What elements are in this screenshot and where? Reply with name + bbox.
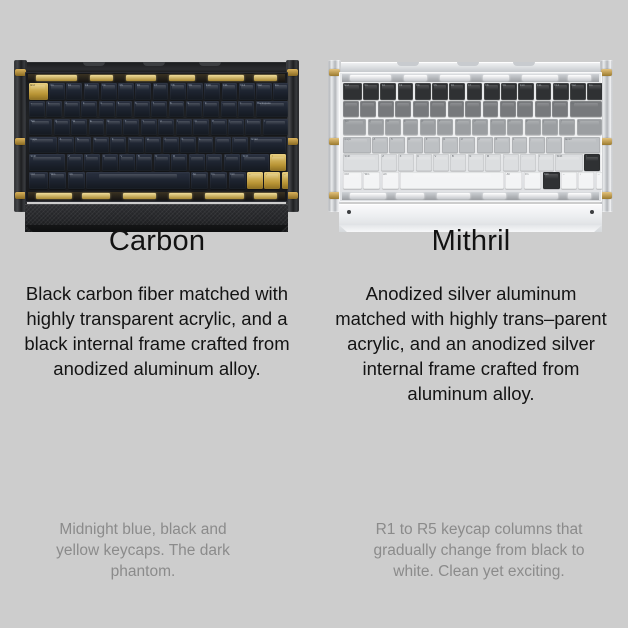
keycap[interactable]: , [503, 154, 519, 171]
keycap-legend: I [177, 120, 178, 123]
keycap-legend: , [190, 155, 191, 158]
keycap[interactable]: D [407, 137, 423, 154]
product-caption-mithril: R1 to R5 keycap columns that gradually c… [366, 519, 592, 582]
keycap[interactable]: ↓ [264, 172, 280, 189]
keycap[interactable]: F [424, 137, 440, 154]
keycap[interactable]: G [128, 137, 144, 154]
keycap[interactable]: U [472, 119, 488, 136]
keycap[interactable]: Esc [29, 83, 48, 100]
keycap-legend: 2 [379, 102, 381, 105]
keycap[interactable]: F10 [518, 83, 534, 100]
internal-plate-strip-bottom [28, 192, 285, 200]
keycap[interactable]: = [238, 101, 254, 118]
keycap-legend: 1 [48, 102, 50, 105]
keycap[interactable]: Ins [587, 83, 602, 100]
keycap-legend: B [452, 155, 454, 158]
keycap-legend: 0 [519, 102, 521, 105]
keycap-legend: ↓ [580, 173, 581, 176]
keycap-legend: P [212, 120, 214, 123]
keycap-legend: = [554, 102, 556, 105]
keycap-legend: Caps [31, 138, 37, 141]
keycap[interactable]: 8 [483, 101, 499, 118]
keycap-legend: V [121, 155, 123, 158]
keycap[interactable]: 5 [430, 101, 446, 118]
keycap[interactable]: / [538, 154, 554, 171]
keycap[interactable]: O [507, 119, 523, 136]
keycap[interactable]: ] [245, 119, 261, 136]
keycap[interactable]: X [398, 154, 414, 171]
keycap[interactable]: F11 [222, 83, 238, 100]
keyboard-row-home-row: CapsASDFGHJKL;'EnterPD [343, 137, 598, 154]
keycap[interactable]: F12 [239, 83, 255, 100]
keycap-legend: Y [142, 120, 144, 123]
keyboard-row-fn-row: EscF1F2F3F4F5F6F7F8F9F10F11F12DelInsPS [343, 83, 598, 100]
keycap-legend: 5 [432, 102, 434, 105]
keycap[interactable]: Enter [564, 137, 600, 154]
keyboard-render-mithril: EscF1F2F3F4F5F6F7F8F9F10F11F12DelInsPS~1… [328, 58, 613, 234]
keycap-legend: Q [369, 120, 371, 123]
keycap[interactable]: Win [49, 172, 66, 189]
keycap[interactable]: F5 [432, 83, 448, 100]
keycap[interactable]: F7 [153, 83, 169, 100]
keycap[interactable]: 4 [99, 101, 115, 118]
keycap-legend: / [225, 155, 226, 158]
keycap-field-carbon: EscF1F2F3F4F5F6F7F8F9F10F11F12DelInsPS~1… [29, 83, 284, 190]
keycap-legend: 0 [205, 102, 207, 105]
keycap[interactable]: 1 [360, 101, 376, 118]
keycap[interactable]: = [552, 101, 568, 118]
keycap[interactable]: Fn [524, 172, 541, 189]
keycap[interactable]: K [494, 137, 510, 154]
keycap[interactable]: F9 [501, 83, 517, 100]
keycap[interactable]: [ [228, 119, 244, 136]
keycap-legend: Enter [565, 138, 572, 141]
keycap[interactable]: 5 [116, 101, 132, 118]
keycap-legend: M [487, 155, 489, 158]
product-caption-carbon: Midnight blue, black and yellow keycaps.… [36, 519, 250, 582]
keycap[interactable]: Fn [210, 172, 227, 189]
keyboard-row-number-row: ~1234567890-=BackspaceHm [29, 101, 284, 118]
keycap[interactable]: → [282, 172, 288, 189]
keycap-legend: O [195, 120, 197, 123]
keycap-legend: 5 [118, 102, 120, 105]
keycap[interactable]: ; [215, 137, 231, 154]
keycap[interactable]: Z [67, 154, 83, 171]
keycap[interactable] [400, 172, 503, 189]
keycap[interactable]: . [206, 154, 222, 171]
keycap[interactable]: 3 [395, 101, 411, 118]
keycap[interactable]: Q [54, 119, 70, 136]
keyboard-row-top-row: TabQWERTYUIOP[]\PU [343, 119, 598, 136]
keycap-legend: Tab [345, 120, 349, 123]
keycap[interactable]: C [102, 154, 118, 171]
keycap[interactable]: 6 [134, 101, 150, 118]
brass-screw-icon [287, 138, 298, 145]
keycap[interactable]: Tab [343, 119, 366, 136]
keycap[interactable]: Alt [68, 172, 85, 189]
keycap-legend: Y [456, 120, 458, 123]
keycap-legend: F2 [382, 84, 385, 87]
keycap[interactable]: E [403, 119, 419, 136]
keycap-legend: Ctrl [345, 173, 349, 176]
crossbar-notch [457, 62, 479, 66]
keycap-legend: 2 [65, 102, 67, 105]
keycap-legend: A [374, 138, 376, 141]
keycap[interactable]: X [84, 154, 100, 171]
keycap[interactable]: F9 [187, 83, 203, 100]
keycap-legend: D [94, 138, 96, 141]
keycap-legend: R [107, 120, 109, 123]
keycap[interactable]: Shift [343, 154, 379, 171]
keycap-legend: Shift [557, 155, 563, 158]
product-caption-wrap-carbon: Midnight blue, black and yellow keycaps.… [10, 519, 276, 599]
keycap[interactable]: V [119, 154, 135, 171]
keycap-legend: ] [247, 120, 248, 123]
product-card-mithril[interactable]: EscF1F2F3F4F5F6F7F8F9F10F11F12DelInsPS~1… [314, 0, 628, 628]
crossbar-notch [513, 62, 535, 66]
keycap-legend: Ins [589, 84, 593, 87]
keycap[interactable]: ] [559, 119, 575, 136]
keycap[interactable]: Shift [29, 154, 65, 171]
keyboard-row-home-row: CapsASDFGHJKL;'EnterPD [29, 137, 284, 154]
keycap[interactable]: F10 [204, 83, 220, 100]
keycap-legend: F4 [416, 84, 419, 87]
keycap-legend: R [421, 120, 423, 123]
keycap-legend: Caps [345, 138, 351, 141]
keycap-legend: L [513, 138, 515, 141]
keycap-legend: F7 [154, 84, 157, 87]
keycap[interactable]: 2 [64, 101, 80, 118]
keycap[interactable]: T [437, 119, 453, 136]
keycap-legend: ↑ [272, 155, 273, 158]
keycap[interactable]: Ctrl [543, 172, 560, 189]
keycap[interactable]: Alt [191, 172, 208, 189]
keycap[interactable]: F11 [536, 83, 552, 100]
keycap[interactable]: B [450, 154, 466, 171]
keycap-legend: F [112, 138, 114, 141]
keycap[interactable]: F [110, 137, 126, 154]
product-description-mithril: Anodized silver aluminum matched with hi… [328, 281, 614, 406]
keycap[interactable]: F2 [66, 83, 82, 100]
keycap-legend: Enter [251, 138, 258, 141]
keycap[interactable]: P [525, 119, 541, 136]
keycap-legend: → [283, 173, 286, 176]
keycap-legend: F10 [520, 84, 525, 87]
keycap[interactable]: - [535, 101, 551, 118]
keycap[interactable]: F6 [135, 83, 151, 100]
keycap[interactable]: F7 [467, 83, 483, 100]
keycap[interactable]: Backspace [256, 101, 288, 118]
keyboard-row-mod-row: CtrlWinAltAltFnCtrl←↓→ [343, 172, 598, 189]
keycap-legend: Del [572, 84, 576, 87]
keycap[interactable]: \ [263, 119, 288, 136]
keycap[interactable]: F5 [118, 83, 134, 100]
keycap-legend: ~ [31, 102, 33, 105]
keycap[interactable]: Z [381, 154, 397, 171]
keyboard-render-carbon: EscF1F2F3F4F5F6F7F8F9F10F11F12DelInsPS~1… [14, 58, 299, 234]
keycap-legend: T [125, 120, 127, 123]
keycap-legend: 7 [153, 102, 155, 105]
keycap[interactable]: Enter [250, 137, 286, 154]
keycap-legend: F12 [554, 84, 559, 87]
keycap[interactable]: J [477, 137, 493, 154]
keycap[interactable]: I [176, 119, 192, 136]
keycap[interactable]: F12 [553, 83, 569, 100]
keycap[interactable]: R [106, 119, 122, 136]
keycap[interactable]: W [385, 119, 401, 136]
keycap-legend: Fn [211, 173, 214, 176]
keycap-legend: Alt [69, 173, 72, 176]
keycap-legend: 4 [414, 102, 416, 105]
keycap[interactable]: K [180, 137, 196, 154]
keycap[interactable]: - [221, 101, 237, 118]
keyboard-row-mod-row: CtrlWinAltAltFnCtrl←↓→ [29, 172, 284, 189]
keycap[interactable]: A [372, 137, 388, 154]
keycap[interactable]: F2 [380, 83, 396, 100]
keycap-legend: W [387, 120, 390, 123]
keycap[interactable]: C [416, 154, 432, 171]
keycap[interactable]: ↑ [270, 154, 286, 171]
keycap-legend: ↑ [586, 155, 587, 158]
keycap-legend: 3 [83, 102, 85, 105]
keyboard-row-fn-row: EscF1F2F3F4F5F6F7F8F9F10F11F12DelInsPS [29, 83, 284, 100]
keycap[interactable]: Ctrl [29, 172, 48, 189]
keycap[interactable]: S [75, 137, 91, 154]
keycap[interactable]: 2 [378, 101, 394, 118]
keycap-legend: Esc [345, 84, 350, 87]
keycap[interactable]: F1 [363, 83, 379, 100]
keycap-legend: F4 [102, 84, 105, 87]
keycap-legend: 6 [449, 102, 451, 105]
keycap-legend: F1 [365, 84, 368, 87]
keycap-field-mithril: EscF1F2F3F4F5F6F7F8F9F10F11F12DelInsPS~1… [343, 83, 598, 190]
keycap[interactable]: Del [570, 83, 586, 100]
keycap[interactable]: I [490, 119, 506, 136]
keycap[interactable]: W [71, 119, 87, 136]
keycap[interactable]: → [596, 172, 602, 189]
keycap[interactable]: F8 [170, 83, 186, 100]
keycap[interactable]: ↓ [578, 172, 594, 189]
keycap-legend: Fn [525, 173, 528, 176]
keycap-legend: ' [548, 138, 549, 141]
keycap[interactable]: Esc [343, 83, 362, 100]
keycap-legend: G [443, 138, 445, 141]
keycap-legend: 8 [170, 102, 172, 105]
keycap[interactable]: Tab [29, 119, 52, 136]
keycap[interactable]: ' [546, 137, 562, 154]
keycap[interactable]: Y [455, 119, 471, 136]
keycap[interactable]: . [520, 154, 536, 171]
keycap-legend: T [439, 120, 441, 123]
keycap[interactable]: F4 [415, 83, 431, 100]
keycap-legend: 8 [484, 102, 486, 105]
keycap-legend: Alt [507, 173, 510, 176]
keycap[interactable]: Y [141, 119, 157, 136]
keycap-legend: F12 [240, 84, 245, 87]
keycap[interactable]: , [189, 154, 205, 171]
keycap[interactable]: Caps [343, 137, 371, 154]
keycap-legend: F8 [485, 84, 488, 87]
keycap-legend: K [496, 138, 498, 141]
keycap-legend: ; [530, 138, 531, 141]
keycap-legend: F1 [51, 84, 54, 87]
keycap[interactable]: N [468, 154, 484, 171]
keycap-legend: F11 [537, 84, 542, 87]
keycap-legend: 6 [135, 102, 137, 105]
keycap-legend: ' [234, 138, 235, 141]
keycap-legend: N [469, 155, 471, 158]
keycap[interactable]: Alt [505, 172, 522, 189]
bezel-screw-icon [590, 210, 594, 214]
keycap[interactable]: Ctrl [343, 172, 362, 189]
crossbar-notch [143, 62, 165, 66]
keycap-legend: X [86, 155, 88, 158]
keycap[interactable]: ← [247, 172, 263, 189]
keycap[interactable]: Ins [273, 83, 288, 100]
keycap[interactable]: 4 [413, 101, 429, 118]
keycap-legend: H [461, 138, 463, 141]
keycap[interactable]: 8 [169, 101, 185, 118]
brass-screw-icon [287, 192, 298, 199]
keycap-legend: L [199, 138, 201, 141]
keycap[interactable]: H [459, 137, 475, 154]
keycap-legend: Z [382, 155, 384, 158]
keycap[interactable]: N [154, 154, 170, 171]
keycap-legend: , [504, 155, 505, 158]
keycap[interactable]: ↑ [584, 154, 600, 171]
keycap[interactable]: S [389, 137, 405, 154]
keycap[interactable]: Q [368, 119, 384, 136]
keycap-legend: ~ [345, 102, 347, 105]
keycap-legend: - [536, 102, 537, 105]
keycap-legend: H [147, 138, 149, 141]
keycap[interactable]: G [442, 137, 458, 154]
keycap[interactable]: P [211, 119, 227, 136]
keycap[interactable]: Backspace [570, 101, 602, 118]
keycap[interactable]: Alt [382, 172, 399, 189]
keycap[interactable]: Win [363, 172, 380, 189]
keycap-legend: 1 [362, 102, 364, 105]
keycap[interactable]: 7 [465, 101, 481, 118]
keycap[interactable]: J [163, 137, 179, 154]
keycap[interactable]: T [123, 119, 139, 136]
keycap[interactable]: U [158, 119, 174, 136]
keycap[interactable]: F1 [49, 83, 65, 100]
keycap-legend: Del [258, 84, 262, 87]
keycap[interactable]: H [145, 137, 161, 154]
keycap[interactable]: 1 [46, 101, 62, 118]
keycap[interactable]: B [136, 154, 152, 171]
keycap[interactable]: O [193, 119, 209, 136]
keycap[interactable]: / [224, 154, 240, 171]
brass-screw-icon [601, 138, 612, 145]
keycap[interactable]: ← [561, 172, 577, 189]
keycap-legend: 3 [397, 102, 399, 105]
keycap[interactable]: Shift [241, 154, 269, 171]
keycap[interactable]: ; [529, 137, 545, 154]
keycap[interactable]: L [512, 137, 528, 154]
keycap[interactable]: M [485, 154, 501, 171]
keycap[interactable]: 3 [81, 101, 97, 118]
keycap-legend: - [222, 102, 223, 105]
keycap[interactable]: R [420, 119, 436, 136]
keycap[interactable]: D [93, 137, 109, 154]
keycap-legend: / [539, 155, 540, 158]
keycap[interactable]: F4 [101, 83, 117, 100]
keycap-legend: Alt [193, 173, 196, 176]
keycap[interactable]: ' [232, 137, 248, 154]
keycap-legend: Ctrl [230, 173, 234, 176]
keycap[interactable]: 9 [500, 101, 516, 118]
keycap-legend: F8 [171, 84, 174, 87]
keyboard-row-bottom-row: ShiftZXCVBNM,./Shift↑End [343, 154, 598, 171]
keycap-legend: \ [578, 120, 579, 123]
keycap[interactable]: 9 [186, 101, 202, 118]
keycap-legend: F10 [206, 84, 211, 87]
keycap-legend: B [138, 155, 140, 158]
keycap[interactable]: A [58, 137, 74, 154]
keycap-legend: F11 [223, 84, 228, 87]
product-columns: EscF1F2F3F4F5F6F7F8F9F10F11F12DelInsPS~1… [0, 0, 628, 628]
brass-screw-icon [287, 69, 298, 76]
keycap[interactable]: 0 [203, 101, 219, 118]
keycap[interactable]: 7 [151, 101, 167, 118]
keycap[interactable]: ~ [29, 101, 45, 118]
keycap-legend: F3 [399, 84, 402, 87]
keycap-legend: D [408, 138, 410, 141]
keyboard-row-bottom-row: ShiftZXCVBNM,./Shift↑End [29, 154, 284, 171]
keycap[interactable]: Ctrl [229, 172, 246, 189]
keycap[interactable]: ~ [343, 101, 359, 118]
keycap[interactable]: F3 [398, 83, 414, 100]
keycap[interactable]: 0 [517, 101, 533, 118]
keycap-legend: ] [561, 120, 562, 123]
keycap[interactable]: F8 [484, 83, 500, 100]
keycap-legend: S [77, 138, 79, 141]
keycap[interactable]: F3 [84, 83, 100, 100]
keycap-legend: ; [216, 138, 217, 141]
keycap-legend: E [404, 120, 406, 123]
keycap-legend: F7 [468, 84, 471, 87]
keycap-legend: Backspace [571, 102, 585, 105]
crossbar-notch [199, 62, 221, 66]
keycap-legend: Alt [383, 173, 386, 176]
keycap[interactable]: Shift [555, 154, 583, 171]
product-card-carbon[interactable]: EscF1F2F3F4F5F6F7F8F9F10F11F12DelInsPS~1… [0, 0, 314, 628]
keycap[interactable]: F6 [449, 83, 465, 100]
keyboard-row-top-row: TabQWERTYUIOP[]\PU [29, 119, 284, 136]
keycap-legend: F5 [434, 84, 437, 87]
keycap-legend: A [60, 138, 62, 141]
keycap[interactable]: \ [577, 119, 602, 136]
keycap[interactable]: L [198, 137, 214, 154]
keycap-legend: 9 [187, 102, 189, 105]
keycap[interactable] [86, 172, 189, 189]
keycap[interactable]: Del [256, 83, 272, 100]
keycap-legend: V [435, 155, 437, 158]
keycap[interactable]: V [433, 154, 449, 171]
keycap[interactable]: E [89, 119, 105, 136]
keycap[interactable]: M [171, 154, 187, 171]
keycap[interactable]: 6 [448, 101, 464, 118]
keycap-legend: = [240, 102, 242, 105]
keycap-legend: Win [51, 173, 56, 176]
product-image-mithril: EscF1F2F3F4F5F6F7F8F9F10F11F12DelInsPS~1… [314, 58, 628, 234]
keycap-legend: C [103, 155, 105, 158]
keycap-legend: [ [230, 120, 231, 123]
keycap[interactable]: Caps [29, 137, 57, 154]
keycap[interactable]: [ [542, 119, 558, 136]
